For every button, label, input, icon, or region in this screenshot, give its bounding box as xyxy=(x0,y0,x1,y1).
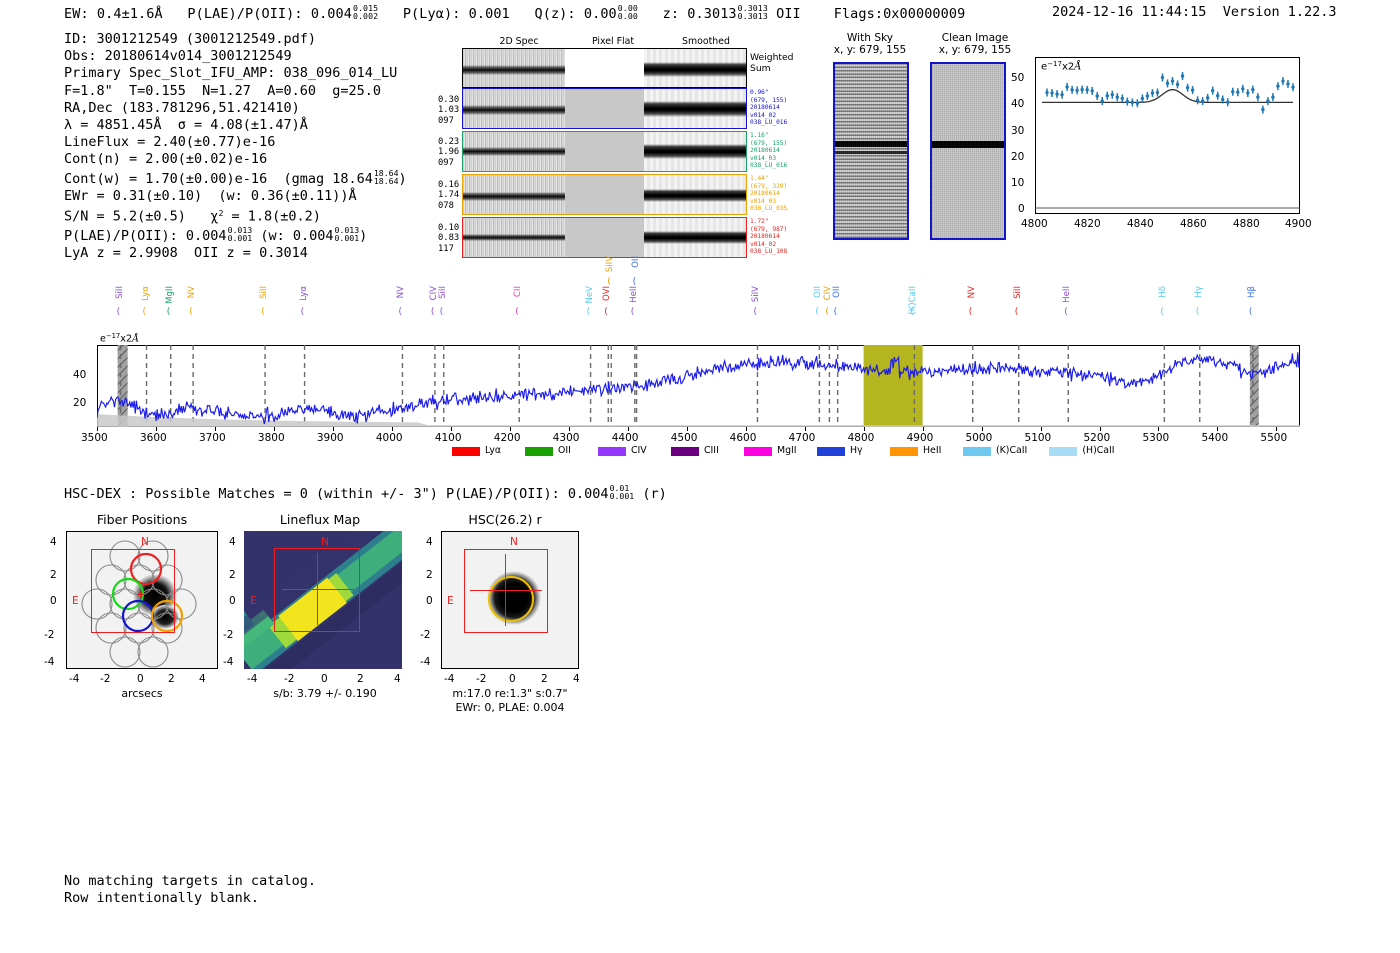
header-summary-line: EW: 0.4±1.6Å P(LAE)/P(OII): 0.0040.0150.… xyxy=(64,4,965,22)
emission-line-label-HeII: HeII xyxy=(1063,286,1072,303)
full-spectrum-xtick-5400: 5400 xyxy=(1201,432,1228,444)
emission-line-label-OII: OII xyxy=(632,256,641,268)
fiber-row-2-strip xyxy=(462,174,747,215)
emission-line-bracket: ( xyxy=(815,307,819,317)
xtick-mark xyxy=(1276,427,1277,431)
legend-label-KCaII: (K)CaII xyxy=(996,445,1027,456)
fiber-positions-east: E xyxy=(72,595,79,607)
full-spectrum-yunit: e−17x2Å xyxy=(100,332,139,344)
info-seeing: F=1.8" T=0.155 N=1.27 A=0.60 g=25.0 xyxy=(64,83,407,100)
legend-swatch-HeII xyxy=(890,447,918,456)
emission-line-label-Ly: Lyα xyxy=(142,286,151,301)
header-z-value: 0.3013 xyxy=(687,6,736,22)
col-title-2dspec: 2D Spec xyxy=(479,36,559,47)
emission-line-bracket: ( xyxy=(1160,307,1164,317)
emission-line-bracket: ( xyxy=(440,307,444,317)
emission-line-label-SiIV: SiIV xyxy=(752,286,761,302)
header-datetime: 2024-12-16 11:44:15 xyxy=(1052,4,1206,20)
fiber-row-0-meta: 0.96"(679, 155)20180614v014_02038_LU_016 xyxy=(750,89,787,127)
full-spectrum-xtick-4300: 4300 xyxy=(553,432,580,444)
xtick-mark xyxy=(1217,427,1218,431)
full-spectrum-xtick-5200: 5200 xyxy=(1084,432,1111,444)
legend-label-MgII: MgII xyxy=(777,445,797,456)
hsc-ytick-m4: -4 xyxy=(420,656,430,668)
clean-image-coords: x, y: 679, 155 xyxy=(920,44,1030,56)
full-spectrum-chart: e−17x2Å 40 20 xyxy=(97,345,1300,427)
lineflux-ytick-0: 0 xyxy=(229,595,236,607)
hsc-xtick-m4: -4 xyxy=(444,673,454,685)
footer-note: No matching targets in catalog. Row inte… xyxy=(64,873,316,907)
clean-image-cutout xyxy=(930,62,1006,240)
xtick-mark xyxy=(215,427,216,431)
header-plae-label: P(LAE)/P(OII): xyxy=(187,6,302,22)
info-plae: P(LAE)/P(OII): 0.0040.0130.001 (w: 0.004… xyxy=(64,226,407,245)
emission-line-bracket: ( xyxy=(189,307,193,317)
full-spectrum-xtick-5300: 5300 xyxy=(1142,432,1169,444)
full-spectrum-xtick-4100: 4100 xyxy=(435,432,462,444)
xtick-mark xyxy=(392,427,393,431)
xtick-mark xyxy=(864,427,865,431)
xtick-mark xyxy=(510,427,511,431)
legend-label-HCaII: (H)CaII xyxy=(1082,445,1114,456)
info-id: ID: 3001212549 (3001212549.pdf) xyxy=(64,31,407,48)
full-spectrum-ytick-20: 20 xyxy=(73,397,86,409)
with-sky-cutout xyxy=(833,62,909,240)
emission-line-bracket: ( xyxy=(910,307,914,317)
fiber-xtick-4: 4 xyxy=(199,673,206,685)
info-cont-w: Cont(w) = 1.70(±0.00)e-16 (gmag 18.6418.… xyxy=(64,169,407,188)
header-timestamp-version: 2024-12-16 11:44:15 Version 1.22.3 xyxy=(1052,4,1337,20)
col-title-pixelflat: Pixel Flat xyxy=(573,36,653,47)
line-fit-ytick-20: 20 xyxy=(1011,151,1024,163)
info-primary-spec: Primary Spec_Slot_IFU_AMP: 038_096_014_L… xyxy=(64,65,407,82)
emission-line-bracket: ( xyxy=(587,307,591,317)
fiber-row-3-left-values: 0.100.83117 xyxy=(438,223,459,254)
line-fit-ytick-40: 40 xyxy=(1011,98,1024,110)
line-fit-xtick-4820: 4820 xyxy=(1074,218,1101,230)
xtick-mark xyxy=(1041,427,1042,431)
fiber-row-3-meta: 1.72"(679, 987)20180614v014_02038_LU_108 xyxy=(750,218,787,256)
header-version: Version 1.22.3 xyxy=(1223,4,1337,20)
info-obs: Obs: 20180614v014_3001212549 xyxy=(64,48,407,65)
fiber-xtick-0: 0 xyxy=(137,673,144,685)
emission-line-label-NV: NV xyxy=(397,286,406,298)
full-spectrum-xtick-4500: 4500 xyxy=(671,432,698,444)
full-spectrum-svg xyxy=(97,345,1300,427)
lineflux-map-east: E xyxy=(250,595,257,607)
legend-swatch-H xyxy=(817,447,845,456)
emission-line-label-OVI: OVI xyxy=(603,286,612,301)
fiber-ytick-m4: -4 xyxy=(44,656,54,668)
header-z-species: OII xyxy=(776,6,801,22)
full-spectrum-xtick-3700: 3700 xyxy=(199,432,226,444)
col-title-smoothed: Smoothed xyxy=(666,36,746,47)
lineflux-xtick-m4: -4 xyxy=(247,673,257,685)
hsc-ytick-4: 4 xyxy=(426,536,433,548)
xtick-mark xyxy=(982,427,983,431)
lineflux-xtick-m2: -2 xyxy=(284,673,294,685)
emission-line-label-Ly: Lyα xyxy=(300,286,309,301)
fiber-positions-north: N xyxy=(141,536,149,548)
legend-swatch-HCaII xyxy=(1049,447,1077,456)
fiber-ytick-4: 4 xyxy=(50,536,57,548)
hsc-xtick-4: 4 xyxy=(573,673,580,685)
hsc-panel-east: E xyxy=(447,595,454,607)
emission-line-label-NeV: NeV xyxy=(586,286,595,304)
fiber-positions-redbox xyxy=(91,549,175,633)
info-redshifts: LyA z = 2.9908 OII z = 0.3014 xyxy=(64,245,407,262)
full-spectrum-xtick-5100: 5100 xyxy=(1025,432,1052,444)
emission-line-label-OII: OII xyxy=(833,286,842,298)
full-spectrum-xtick-3500: 3500 xyxy=(81,432,108,444)
header-plya: P(Lyα): 0.001 xyxy=(403,6,510,22)
line-fit-zoom-chart: e−17x2Å 50 40 30 20 10 0 4800 4820 4840 … xyxy=(1035,57,1300,214)
header-qz-label: Q(z): xyxy=(534,6,575,22)
emission-line-bracket: ( xyxy=(825,307,829,317)
lineflux-xtick-0: 0 xyxy=(321,673,328,685)
info-ewr: EWr = 0.31(±0.10) (w: 0.36(±0.11))Å xyxy=(64,188,407,205)
fiber-ytick-2: 2 xyxy=(50,569,57,581)
xtick-mark xyxy=(1100,427,1101,431)
full-spectrum-xtick-4700: 4700 xyxy=(789,432,816,444)
legend-swatch-OII xyxy=(525,447,553,456)
legend-label-HeII: HeII xyxy=(923,445,941,456)
line-fit-xtick-4800: 4800 xyxy=(1021,218,1048,230)
xtick-mark xyxy=(333,427,334,431)
legend-label-H: Hγ xyxy=(850,445,863,456)
line-fit-xtick-4840: 4840 xyxy=(1127,218,1154,230)
fiber-ytick-0: 0 xyxy=(50,595,57,607)
emission-line-bracket: ( xyxy=(969,307,973,317)
emission-line-bracket: ( xyxy=(604,307,608,317)
emission-line-label-SiII: SiII xyxy=(260,286,269,299)
full-spectrum-xtick-5500: 5500 xyxy=(1260,432,1287,444)
line-fit-ytick-0: 0 xyxy=(1018,203,1025,215)
emission-line-bracket: ( xyxy=(607,277,611,287)
emission-line-bracket: ( xyxy=(631,307,635,317)
emission-line-bracket: ( xyxy=(261,307,265,317)
line-fit-ytick-30: 30 xyxy=(1011,125,1024,137)
lineflux-map-title: Lineflux Map xyxy=(240,512,400,527)
hsc-xtick-m2: -2 xyxy=(476,673,486,685)
full-spectrum-xtick-3800: 3800 xyxy=(258,432,285,444)
clean-image-title: Clean Image xyxy=(920,32,1030,44)
fiber-row-1-left-values: 0.231.96097 xyxy=(438,137,459,168)
info-sn-chi2: S/N = 5.2(±0.5) χ2 = 1.8(±0.2) xyxy=(64,205,407,226)
emission-line-bracket: ( xyxy=(167,307,171,317)
xtick-mark xyxy=(1158,427,1159,431)
fiber-row-0-strip xyxy=(462,88,747,129)
lineflux-map-caption: s/b: 3.79 +/- 0.190 xyxy=(235,687,415,700)
footer-line-1: No matching targets in catalog. xyxy=(64,873,316,890)
legend-swatch-CIII xyxy=(671,447,699,456)
emission-line-bracket: ( xyxy=(753,307,757,317)
weighted-sum-label: WeightedSum xyxy=(750,52,794,74)
header-qz-errors: 0.000.00 xyxy=(618,4,638,21)
xtick-mark xyxy=(451,427,452,431)
emission-line-bracket: ( xyxy=(633,277,637,287)
hsc-xtick-0: 0 xyxy=(509,673,516,685)
header-z-label: z: xyxy=(663,6,679,22)
fiber-xtick-m4: -4 xyxy=(69,673,79,685)
emission-line-bracket: ( xyxy=(1015,307,1019,317)
xtick-mark xyxy=(687,427,688,431)
legend-swatch-KCaII xyxy=(963,447,991,456)
emission-line-bracket: ( xyxy=(301,307,305,317)
info-cont-n: Cont(n) = 2.00(±0.02)e-16 xyxy=(64,151,407,168)
header-ew: EW: 0.4±1.6Å xyxy=(64,6,163,22)
line-fit-xtick-4900: 4900 xyxy=(1285,218,1312,230)
full-spectrum-xtick-4800: 4800 xyxy=(848,432,875,444)
full-spectrum-xtick-5000: 5000 xyxy=(966,432,993,444)
emission-line-bracket: ( xyxy=(117,307,121,317)
emission-line-bracket: ( xyxy=(431,307,435,317)
xtick-mark xyxy=(923,427,924,431)
emission-line-bracket: ( xyxy=(398,307,402,317)
full-spectrum-xtick-4900: 4900 xyxy=(907,432,934,444)
fiber-row-2-left-values: 0.161.74078 xyxy=(438,180,459,211)
xtick-mark xyxy=(805,427,806,431)
info-lineflux: LineFlux = 2.40(±0.77)e-16 xyxy=(64,134,407,151)
emission-line-label-H: Hδ xyxy=(1159,286,1168,298)
hsc-panel-caption-2: EWr: 0, PLAE: 0.004 xyxy=(430,701,590,714)
line-fit-ytick-10: 10 xyxy=(1011,177,1024,189)
hsc-xtick-2: 2 xyxy=(541,673,548,685)
hsc-ytick-2: 2 xyxy=(426,569,433,581)
legend-label-OII: OII xyxy=(558,445,571,456)
lineflux-ytick-m2: -2 xyxy=(223,629,233,641)
lineflux-map-axes xyxy=(244,531,402,669)
emission-line-bracket: ( xyxy=(1249,307,1253,317)
emission-line-label-SiII: SiII xyxy=(1014,286,1023,299)
full-spectrum-xtick-3900: 3900 xyxy=(317,432,344,444)
fiber-xtick-2: 2 xyxy=(168,673,175,685)
hsc-panel-caption-1: m:17.0 re:1.3" s:0.7" xyxy=(430,687,590,700)
full-spectrum-xtick-4000: 4000 xyxy=(376,432,403,444)
full-spectrum-xtick-3600: 3600 xyxy=(140,432,167,444)
line-fit-xtick-4880: 4880 xyxy=(1233,218,1260,230)
fiber-row-1-strip xyxy=(462,131,747,172)
legend-label-CIV: CIV xyxy=(631,445,647,456)
emission-line-label-MgII: MgII xyxy=(166,286,175,304)
line-fit-xtick-4860: 4860 xyxy=(1180,218,1207,230)
fiber-row-1-meta: 1.16"(679, 155)20180614v014_03038_LU_016 xyxy=(750,132,787,170)
xtick-mark xyxy=(156,427,157,431)
hscdex-line: HSC-DEX : Possible Matches = 0 (within +… xyxy=(64,484,667,502)
fiber-row-0-left-values: 0.301.03097 xyxy=(438,95,459,126)
emission-line-label-OII: OII xyxy=(814,286,823,298)
hsc-ytick-0: 0 xyxy=(426,595,433,607)
fiber-row-3-strip xyxy=(462,217,747,258)
lineflux-xtick-2: 2 xyxy=(357,673,364,685)
legend-label-Ly: Lyα xyxy=(485,445,501,456)
emission-line-label-NV: NV xyxy=(188,286,197,298)
hsc-panel-axes xyxy=(441,531,579,669)
emission-line-label-SiII: SiII xyxy=(116,286,125,299)
line-fit-svg xyxy=(1035,57,1300,214)
hsc-ytick-m2: -2 xyxy=(420,629,430,641)
fiber-ytick-m2: -2 xyxy=(44,629,54,641)
lineflux-map-north: N xyxy=(321,536,329,548)
lineflux-ytick-m4: -4 xyxy=(223,656,233,668)
fiber-positions-title: Fiber Positions xyxy=(63,512,221,527)
full-spectrum-xtick-4400: 4400 xyxy=(612,432,639,444)
full-spectrum-xtick-4600: 4600 xyxy=(730,432,757,444)
emission-line-label-CII: CII xyxy=(514,286,523,297)
fiber-xtick-m2: -2 xyxy=(100,673,110,685)
lineflux-xtick-4: 4 xyxy=(394,673,401,685)
legend-swatch-MgII xyxy=(744,447,772,456)
xtick-mark xyxy=(746,427,747,431)
info-lambda: λ = 4851.45Å σ = 4.08(±1.47)Å xyxy=(64,117,407,134)
emission-line-bracket: ( xyxy=(834,307,838,317)
legend-swatch-Ly xyxy=(452,447,480,456)
emission-line-bracket: ( xyxy=(515,307,519,317)
emission-line-label-SiII: SiII xyxy=(439,286,448,299)
emission-line-label-HeII: HeII xyxy=(630,286,639,303)
xtick-mark xyxy=(628,427,629,431)
hsc-panel-title: HSC(26.2) r xyxy=(425,512,585,527)
lineflux-ytick-2: 2 xyxy=(229,569,236,581)
line-fit-ytick-50: 50 xyxy=(1011,72,1024,84)
full-spectrum-ytick-40: 40 xyxy=(73,369,86,381)
xtick-mark xyxy=(97,427,98,431)
emission-line-label-SiIV: SiIV xyxy=(606,256,615,272)
fiber-positions-xlabel: arcsecs xyxy=(63,687,221,700)
emission-line-label-NV: NV xyxy=(968,286,977,298)
header-plae-value: 0.004 xyxy=(311,6,352,22)
footer-line-2: Row intentionally blank. xyxy=(64,890,316,907)
legend-swatch-CIV xyxy=(598,447,626,456)
full-spectrum-xtick-4200: 4200 xyxy=(494,432,521,444)
legend-label-CIII: CIII xyxy=(704,445,719,456)
fiber-row-2-meta: 1.44"(679, 320)20180614v014_03038_LU_035 xyxy=(750,175,787,213)
emission-line-label-H: Hβ xyxy=(1248,286,1257,298)
hsc-panel-north: N xyxy=(510,536,518,548)
header-plae-errors: 0.0150.002 xyxy=(353,4,378,21)
emission-line-bracket: ( xyxy=(1196,307,1200,317)
object-info-block: ID: 3001212549 (3001212549.pdf) Obs: 201… xyxy=(64,31,407,262)
with-sky-coords: x, y: 679, 155 xyxy=(820,44,920,56)
header-z-errors: 0.30130.3013 xyxy=(738,4,768,21)
lineflux-ytick-4: 4 xyxy=(229,536,236,548)
emission-line-bracket: ( xyxy=(1064,307,1068,317)
header-qz-value: 0.00 xyxy=(584,6,617,22)
info-radec: RA,Dec (183.781296,51.421410) xyxy=(64,100,407,117)
xtick-mark xyxy=(274,427,275,431)
emission-line-label-H: Hγ xyxy=(1195,286,1204,298)
xtick-mark xyxy=(569,427,570,431)
fiber-positions-axes xyxy=(66,531,218,669)
with-sky-title: With Sky xyxy=(820,32,920,44)
emission-line-bracket: ( xyxy=(143,307,147,317)
header-flags: Flags:0x00000009 xyxy=(834,6,966,22)
weighted-sum-strip xyxy=(462,48,747,88)
